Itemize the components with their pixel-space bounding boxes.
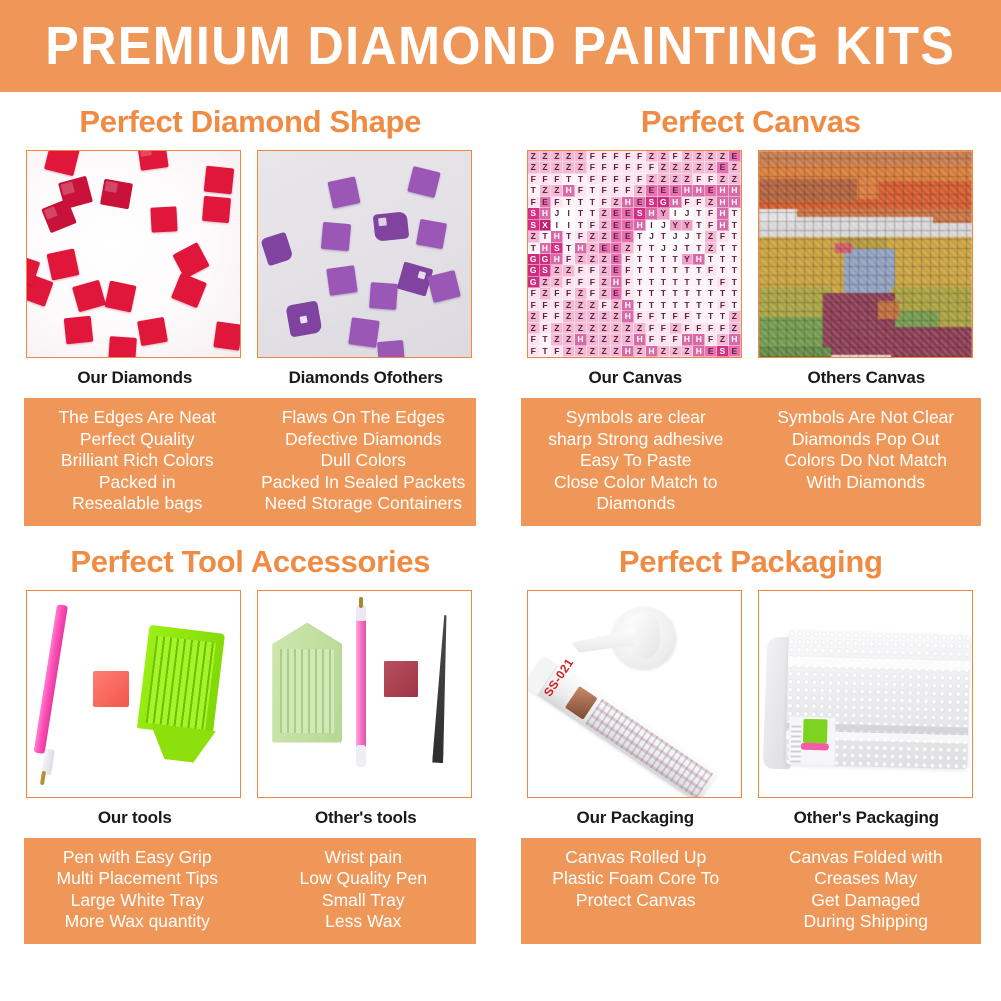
canvas-symbol-cell: T bbox=[540, 346, 552, 357]
diamond-bead bbox=[373, 211, 410, 241]
section-title: Perfect Tool Accessories bbox=[0, 544, 501, 580]
desc-line: Perfect Quality bbox=[26, 429, 248, 451]
desc-line: Colors Do Not Match bbox=[753, 450, 979, 472]
canvas-symbol-cell: Z bbox=[705, 243, 717, 254]
canvas-symbol-cell: T bbox=[563, 174, 575, 185]
canvas-symbol-cell: H bbox=[551, 231, 563, 242]
canvas-symbol-cell: Z bbox=[611, 300, 623, 311]
desc-ours: Pen with Easy Grip Multi Placement Tips … bbox=[24, 847, 250, 933]
canvas-symbol-cell: Z bbox=[622, 243, 634, 254]
canvas-symbol-cell: Z bbox=[729, 311, 741, 322]
canvas-symbol-cell: H bbox=[693, 334, 705, 345]
figure-our-tools: Our tools bbox=[26, 590, 243, 828]
desc-line: Creases May bbox=[753, 868, 979, 890]
canvas-symbol-cell: T bbox=[693, 311, 705, 322]
canvas-symbol-cell: F bbox=[551, 300, 563, 311]
canvas-symbol-cell: Z bbox=[599, 220, 611, 231]
canvas-symbol-cell: F bbox=[587, 151, 599, 162]
canvas-symbol-cell: H bbox=[693, 185, 705, 196]
desc-line: Low Quality Pen bbox=[252, 868, 474, 890]
canvas-symbol-cell: E bbox=[717, 162, 729, 173]
desc-line: The Edges Are Neat bbox=[26, 407, 248, 429]
desc-others: Symbols Are Not Clear Diamonds Pop Out C… bbox=[751, 407, 981, 515]
canvas-symbol-cell: Z bbox=[658, 162, 670, 173]
canvas-symbol-cell: H bbox=[693, 346, 705, 357]
canvas-symbol-cell: H bbox=[575, 243, 587, 254]
desc-line: Wrist pain bbox=[252, 847, 474, 869]
canvas-symbol-cell: S bbox=[551, 243, 563, 254]
canvas-symbol-cell: T bbox=[717, 243, 729, 254]
canvas-symbol-cell: T bbox=[729, 231, 741, 242]
canvas-symbol-cell: T bbox=[670, 288, 682, 299]
canvas-symbol-cell: Z bbox=[705, 151, 717, 162]
canvas-symbol-cell: T bbox=[634, 300, 646, 311]
description-band: Canvas Rolled Up Plastic Foam Core To Pr… bbox=[521, 838, 981, 944]
canvas-symbol-cell: T bbox=[682, 265, 694, 276]
canvas-symbol-cell: H bbox=[646, 346, 658, 357]
canvas-symbol-cell: F bbox=[528, 334, 540, 345]
pen-base bbox=[356, 745, 366, 767]
canvas-symbol-cell: Z bbox=[563, 311, 575, 322]
diamond-bead bbox=[64, 316, 94, 345]
canvas-symbol-cell: E bbox=[611, 208, 623, 219]
canvas-symbol-cell: I bbox=[646, 220, 658, 231]
canvas-symbol-cell: T bbox=[670, 277, 682, 288]
description-band: Symbols are clear sharp Strong adhesive … bbox=[521, 398, 981, 526]
canvas-symbol-cell: Z bbox=[575, 323, 587, 334]
canvas-symbol-cell: Z bbox=[599, 346, 611, 357]
canvas-symbol-cell: Z bbox=[646, 151, 658, 162]
canvas-symbol-cell: G bbox=[528, 254, 540, 265]
canvas-symbol-cell: Z bbox=[563, 346, 575, 357]
canvas-symbol-cell: F bbox=[646, 334, 658, 345]
canvas-symbol-cell: E bbox=[658, 185, 670, 196]
canvas-symbol-cell: T bbox=[634, 243, 646, 254]
canvas-symbol-cell: F bbox=[682, 323, 694, 334]
canvas-symbol-cell: F bbox=[551, 346, 563, 357]
desc-line: Packed In Sealed Packets bbox=[252, 472, 474, 494]
canvas-symbol-cell: T bbox=[729, 265, 741, 276]
figure-caption: Diamonds Ofothers bbox=[257, 368, 474, 388]
canvas-symbol-cell: E bbox=[622, 208, 634, 219]
diamond-bead bbox=[47, 248, 80, 280]
canvas-symbol-cell: I bbox=[670, 208, 682, 219]
canvas-symbol-cell: Z bbox=[634, 323, 646, 334]
canvas-symbol-cell: F bbox=[551, 311, 563, 322]
section-tools: Perfect Tool Accessories bbox=[0, 532, 501, 944]
canvas-symbol-cell: G bbox=[528, 277, 540, 288]
description-band: The Edges Are Neat Perfect Quality Brill… bbox=[24, 398, 476, 526]
canvas-symbol-cell: S bbox=[528, 220, 540, 231]
section-row-2: Perfect Tool Accessories bbox=[0, 532, 1001, 944]
canvas-symbol-cell: S bbox=[634, 208, 646, 219]
canvas-symbol-cell: F bbox=[634, 162, 646, 173]
canvas-symbol-cell: H bbox=[634, 220, 646, 231]
canvas-symbol-cell: Z bbox=[587, 323, 599, 334]
diamond-bead bbox=[328, 176, 361, 208]
canvas-symbol-cell: E bbox=[634, 197, 646, 208]
canvas-symbol-cell: H bbox=[622, 311, 634, 322]
canvas-symbol-cell: F bbox=[634, 151, 646, 162]
infographic-page: PREMIUM DIAMOND PAINTING KITS Perfect Di… bbox=[0, 0, 1001, 1001]
desc-line: Canvas Folded with bbox=[753, 847, 979, 869]
canvas-symbol-cell: Z bbox=[587, 334, 599, 345]
canvas-symbol-cell: F bbox=[611, 162, 623, 173]
canvas-symbol-cell: H bbox=[693, 254, 705, 265]
section-canvas: Perfect Canvas ZZZZZFFFFFZZFZZZZEZZZZZFF… bbox=[501, 92, 1001, 526]
canvas-symbol-cell: T bbox=[587, 197, 599, 208]
canvas-symbol-cell: F bbox=[717, 300, 729, 311]
section-diamond-shape: Perfect Diamond Shape bbox=[0, 92, 501, 526]
desc-line: Dull Colors bbox=[252, 450, 474, 472]
canvas-symbol-cell: F bbox=[622, 174, 634, 185]
desc-line: Small Tray bbox=[252, 890, 474, 912]
canvas-symbol-cell: Z bbox=[599, 208, 611, 219]
canvas-symbol-cell: Z bbox=[634, 346, 646, 357]
canvas-symbol-cell: F bbox=[682, 311, 694, 322]
canvas-symbol-cell: Z bbox=[551, 162, 563, 173]
page-header: PREMIUM DIAMOND PAINTING KITS bbox=[0, 0, 1001, 92]
canvas-symbol-cell: J bbox=[658, 220, 670, 231]
canvas-symbol-cell: Z bbox=[670, 174, 682, 185]
tube-packaging-photo: SS-021 bbox=[527, 590, 742, 798]
canvas-symbol-cell: F bbox=[587, 277, 599, 288]
canvas-symbol-cell: T bbox=[705, 254, 717, 265]
canvas-symbol-cell: T bbox=[646, 288, 658, 299]
canvas-symbol-cell: Z bbox=[528, 162, 540, 173]
canvas-symbol-cell: T bbox=[575, 220, 587, 231]
canvas-symbol-cell: T bbox=[646, 277, 658, 288]
pale-green-tray bbox=[272, 623, 342, 743]
canvas-symbol-cell: T bbox=[670, 254, 682, 265]
canvas-symbol-cell: H bbox=[729, 197, 741, 208]
desc-line: Multi Placement Tips bbox=[26, 868, 248, 890]
canvas-symbol-cell: H bbox=[646, 208, 658, 219]
canvas-symbol-cell: H bbox=[729, 334, 741, 345]
canvas-symbol-cell: Z bbox=[551, 323, 563, 334]
canvas-symbol-cell: F bbox=[682, 197, 694, 208]
figure-our-packaging: SS-021 Our Packaging bbox=[527, 590, 744, 828]
diamond-bead bbox=[369, 282, 398, 310]
diamond-bead bbox=[321, 222, 351, 251]
diamond-bead bbox=[327, 265, 358, 296]
diamond-bead bbox=[214, 321, 242, 350]
canvas-symbol-cell: Z bbox=[587, 243, 599, 254]
canvas-symbol-cell: F bbox=[587, 288, 599, 299]
figure-other-tools: Other's tools bbox=[257, 590, 474, 828]
canvas-symbol-cell: Y bbox=[682, 254, 694, 265]
canvas-symbol-cell: T bbox=[634, 231, 646, 242]
canvas-symbol-cell: T bbox=[634, 288, 646, 299]
canvas-symbol-cell: T bbox=[729, 220, 741, 231]
canvas-symbol-cell: H bbox=[622, 197, 634, 208]
canvas-symbol-cell: T bbox=[563, 231, 575, 242]
canvas-symbol-cell: G bbox=[540, 254, 552, 265]
canvas-symbol-cell: F bbox=[587, 174, 599, 185]
figure-row: SS-021 Our Packaging bbox=[501, 590, 1001, 828]
desc-line: More Wax quantity bbox=[26, 911, 248, 933]
desc-line: Symbols Are Not Clear bbox=[753, 407, 979, 429]
canvas-symbol-cell: T bbox=[587, 185, 599, 196]
canvas-symbol-cell: F bbox=[528, 174, 540, 185]
canvas-symbol-cell: Z bbox=[658, 346, 670, 357]
canvas-symbol-cell: S bbox=[646, 197, 658, 208]
canvas-symbol-cell: F bbox=[705, 220, 717, 231]
canvas-symbol-cell: F bbox=[646, 311, 658, 322]
desc-line: sharp Strong adhesive bbox=[523, 429, 749, 451]
canvas-symbol-cell: Z bbox=[599, 254, 611, 265]
canvas-symbol-cell: I bbox=[563, 220, 575, 231]
canvas-symbol-cell: F bbox=[622, 185, 634, 196]
canvas-symbol-cell: J bbox=[646, 231, 658, 242]
symbol-canvas-photo: ZZZZZFFFFFZZFZZZZEZZZZZFFFFFFZZZZZEZFFFT… bbox=[527, 150, 742, 358]
canvas-symbol-cell: Z bbox=[682, 151, 694, 162]
canvas-symbol-cell: Z bbox=[575, 300, 587, 311]
canvas-symbol-cell: F bbox=[611, 174, 623, 185]
canvas-symbol-cell: E bbox=[540, 197, 552, 208]
figure-caption: Other's Packaging bbox=[758, 808, 975, 828]
green-tray bbox=[137, 624, 225, 736]
canvas-symbol-cell: H bbox=[634, 334, 646, 345]
desc-line: Get Damaged bbox=[753, 890, 979, 912]
canvas-symbol-cell: F bbox=[634, 311, 646, 322]
canvas-symbol-cell: F bbox=[611, 185, 623, 196]
canvas-symbol-cell: F bbox=[634, 174, 646, 185]
desc-line: Packed in bbox=[26, 472, 248, 494]
canvas-symbol-cell: Z bbox=[551, 334, 563, 345]
section-title: Perfect Canvas bbox=[501, 104, 1001, 140]
canvas-symbol-cell: E bbox=[611, 254, 623, 265]
blurry-canvas-photo bbox=[758, 150, 973, 358]
canvas-symbol-cell: T bbox=[693, 231, 705, 242]
canvas-symbol-cell: J bbox=[670, 243, 682, 254]
diamond-bead bbox=[100, 179, 133, 210]
canvas-symbol-cell: F bbox=[540, 300, 552, 311]
canvas-symbol-cell: T bbox=[682, 243, 694, 254]
canvas-symbol-cell: T bbox=[705, 288, 717, 299]
canvas-symbol-cell: T bbox=[658, 265, 670, 276]
canvas-symbol-cell: Z bbox=[717, 151, 729, 162]
canvas-symbol-cell: H bbox=[717, 197, 729, 208]
canvas-symbol-cell: F bbox=[646, 323, 658, 334]
canvas-symbol-cell: T bbox=[717, 254, 729, 265]
canvas-symbol-cell: T bbox=[658, 254, 670, 265]
figure-other-packaging: Other's Packaging bbox=[758, 590, 975, 828]
canvas-symbol-cell: Z bbox=[563, 151, 575, 162]
canvas-symbol-cell: I bbox=[551, 220, 563, 231]
desc-line: Symbols are clear bbox=[523, 407, 749, 429]
canvas-symbol-cell: F bbox=[717, 323, 729, 334]
canvas-symbol-cell: Z bbox=[599, 334, 611, 345]
pink-pen bbox=[356, 619, 366, 749]
canvas-symbol-cell: F bbox=[587, 162, 599, 173]
canvas-symbol-cell: T bbox=[693, 277, 705, 288]
canvas-symbol-cell: Z bbox=[729, 162, 741, 173]
desc-line: Need Storage Containers bbox=[252, 493, 474, 515]
figure-caption: Our Canvas bbox=[527, 368, 744, 388]
canvas-symbol-cell: F bbox=[670, 311, 682, 322]
canvas-symbol-cell: Z bbox=[611, 197, 623, 208]
canvas-symbol-cell: S bbox=[540, 265, 552, 276]
canvas-symbol-cell: F bbox=[622, 288, 634, 299]
canvas-symbol-cell: F bbox=[528, 346, 540, 357]
desc-line: Pen with Easy Grip bbox=[26, 847, 248, 869]
canvas-symbol-cell: Z bbox=[575, 151, 587, 162]
canvas-symbol-cell: T bbox=[528, 185, 540, 196]
canvas-symbol-cell: T bbox=[693, 220, 705, 231]
canvas-symbol-cell: H bbox=[717, 220, 729, 231]
section-packaging: Perfect Packaging SS-021 bbox=[501, 532, 1001, 944]
canvas-symbol-cell: S bbox=[717, 346, 729, 357]
diamond-bead bbox=[377, 340, 405, 358]
canvas-symbol-cell: F bbox=[551, 174, 563, 185]
canvas-symbol-cell: H bbox=[575, 334, 587, 345]
canvas-symbol-cell: F bbox=[693, 323, 705, 334]
page-title: PREMIUM DIAMOND PAINTING KITS bbox=[45, 15, 955, 77]
desc-line: Easy To Paste bbox=[523, 450, 749, 472]
canvas-symbol-cell: Z bbox=[540, 151, 552, 162]
desc-line: Defective Diamonds bbox=[252, 429, 474, 451]
section-title: Perfect Packaging bbox=[501, 544, 1001, 580]
canvas-symbol-cell: E bbox=[622, 220, 634, 231]
pen-metal-tip bbox=[359, 597, 363, 608]
canvas-symbol-cell: I bbox=[563, 208, 575, 219]
bubble-envelope-photo bbox=[758, 590, 973, 798]
canvas-symbol-cell: F bbox=[658, 334, 670, 345]
desc-others: Wrist pain Low Quality Pen Small Tray Le… bbox=[250, 847, 476, 933]
canvas-symbol-cell: F bbox=[705, 208, 717, 219]
canvas-symbol-cell: T bbox=[528, 243, 540, 254]
canvas-symbol-cell: Z bbox=[599, 288, 611, 299]
canvas-symbol-cell: J bbox=[670, 231, 682, 242]
canvas-symbol-cell: Z bbox=[528, 231, 540, 242]
canvas-symbol-cell: T bbox=[729, 300, 741, 311]
canvas-symbol-cell: Z bbox=[575, 311, 587, 322]
canvas-symbol-cell: Y bbox=[670, 220, 682, 231]
canvas-symbol-cell: Z bbox=[670, 346, 682, 357]
diamond-bead bbox=[204, 166, 235, 195]
diamond-bead bbox=[151, 206, 178, 232]
diamond-bead bbox=[108, 336, 137, 358]
canvas-symbol-cell: H bbox=[551, 254, 563, 265]
canvas-symbol-cell: Z bbox=[646, 174, 658, 185]
canvas-symbol-cell: H bbox=[729, 185, 741, 196]
canvas-symbol-cell: Z bbox=[528, 311, 540, 322]
canvas-symbol-cell: G bbox=[658, 197, 670, 208]
desc-line: Brilliant Rich Colors bbox=[26, 450, 248, 472]
canvas-symbol-cell: Z bbox=[682, 346, 694, 357]
canvas-symbol-cell: Z bbox=[611, 323, 623, 334]
canvas-symbol-cell: Z bbox=[611, 334, 623, 345]
canvas-symbol-cell: F bbox=[599, 151, 611, 162]
canvas-symbol-cell: T bbox=[682, 277, 694, 288]
figure-caption: Our Packaging bbox=[527, 808, 744, 828]
wax-square bbox=[384, 661, 418, 697]
canvas-symbol-cell: J bbox=[682, 208, 694, 219]
canvas-symbol-cell: Y bbox=[658, 208, 670, 219]
desc-ours: Symbols are clear sharp Strong adhesive … bbox=[521, 407, 751, 515]
canvas-symbol-cell: F bbox=[575, 277, 587, 288]
figure-others-canvas: Others Canvas bbox=[758, 150, 975, 388]
canvas-symbol-cell: F bbox=[563, 277, 575, 288]
canvas-symbol-cell: F bbox=[528, 288, 540, 299]
canvas-symbol-cell: F bbox=[540, 311, 552, 322]
canvas-symbol-cell: E bbox=[729, 346, 741, 357]
canvas-symbol-cell: T bbox=[729, 254, 741, 265]
canvas-symbol-cell: F bbox=[646, 162, 658, 173]
envelope-contents bbox=[788, 716, 835, 765]
canvas-symbol-cell: E bbox=[705, 346, 717, 357]
figure-caption: Others Canvas bbox=[758, 368, 975, 388]
canvas-symbol-cell: Z bbox=[587, 300, 599, 311]
diamond-bead bbox=[137, 317, 168, 346]
canvas-symbol-cell: T bbox=[575, 197, 587, 208]
canvas-symbol-cell: Z bbox=[717, 174, 729, 185]
canvas-symbol-cell: H bbox=[717, 185, 729, 196]
canvas-symbol-cell: H bbox=[622, 346, 634, 357]
diamond-bead bbox=[416, 219, 447, 249]
canvas-symbol-cell: F bbox=[622, 277, 634, 288]
canvas-symbol-cell: T bbox=[729, 243, 741, 254]
canvas-symbol-cell: F bbox=[717, 231, 729, 242]
canvas-symbol-cell: F bbox=[599, 300, 611, 311]
canvas-symbol-cell: T bbox=[717, 265, 729, 276]
canvas-symbol-cell: F bbox=[717, 277, 729, 288]
canvas-symbol-cell: Z bbox=[551, 151, 563, 162]
canvas-symbol-cell: T bbox=[670, 300, 682, 311]
canvas-symbol-cell: Z bbox=[717, 334, 729, 345]
canvas-symbol-cell: T bbox=[682, 300, 694, 311]
canvas-symbol-cell: X bbox=[540, 220, 552, 231]
canvas-symbol-cell: E bbox=[611, 220, 623, 231]
canvas-symbol-cell: Z bbox=[599, 323, 611, 334]
canvas-symbol-cell: Z bbox=[551, 185, 563, 196]
figure-caption: Our tools bbox=[26, 808, 243, 828]
canvas-symbol-cell: F bbox=[587, 220, 599, 231]
canvas-symbol-cell: T bbox=[670, 265, 682, 276]
canvas-symbol-cell: T bbox=[575, 174, 587, 185]
canvas-symbol-cell: F bbox=[540, 174, 552, 185]
our-tools-photo bbox=[26, 590, 241, 798]
canvas-symbol-cell: Z bbox=[729, 174, 741, 185]
figure-row: ZZZZZFFFFFZZFZZZZEZZZZZFFFFFFZZZZZEZFFFT… bbox=[501, 150, 1001, 388]
canvas-symbol-cell: E bbox=[599, 243, 611, 254]
figure-caption: Other's tools bbox=[257, 808, 474, 828]
canvas-symbol-cell: Z bbox=[599, 277, 611, 288]
canvas-symbol-cell: Z bbox=[563, 334, 575, 345]
canvas-symbol-cell: Z bbox=[693, 162, 705, 173]
canvas-symbol-cell: F bbox=[575, 185, 587, 196]
canvas-symbol-cell: F bbox=[705, 174, 717, 185]
blurry-art bbox=[759, 151, 972, 357]
canvas-symbol-cell: T bbox=[658, 311, 670, 322]
canvas-symbol-cell: F bbox=[540, 323, 552, 334]
canvas-symbol-cell: H bbox=[682, 334, 694, 345]
canvas-symbol-cell: T bbox=[634, 277, 646, 288]
canvas-symbol-cell: Z bbox=[599, 311, 611, 322]
canvas-symbol-cell: T bbox=[693, 243, 705, 254]
canvas-symbol-cell: Z bbox=[670, 323, 682, 334]
canvas-symbol-cell: Z bbox=[729, 323, 741, 334]
canvas-symbol-cell: Z bbox=[587, 231, 599, 242]
desc-line: Less Wax bbox=[252, 911, 474, 933]
desc-line: Close Color Match to bbox=[523, 472, 749, 494]
canvas-symbol-cell: Z bbox=[528, 151, 540, 162]
canvas-symbol-cell: T bbox=[634, 265, 646, 276]
figure-our-diamonds: Our Diamonds bbox=[26, 150, 243, 388]
canvas-symbol-cell: Z bbox=[528, 323, 540, 334]
canvas-symbol-cell: Z bbox=[658, 151, 670, 162]
